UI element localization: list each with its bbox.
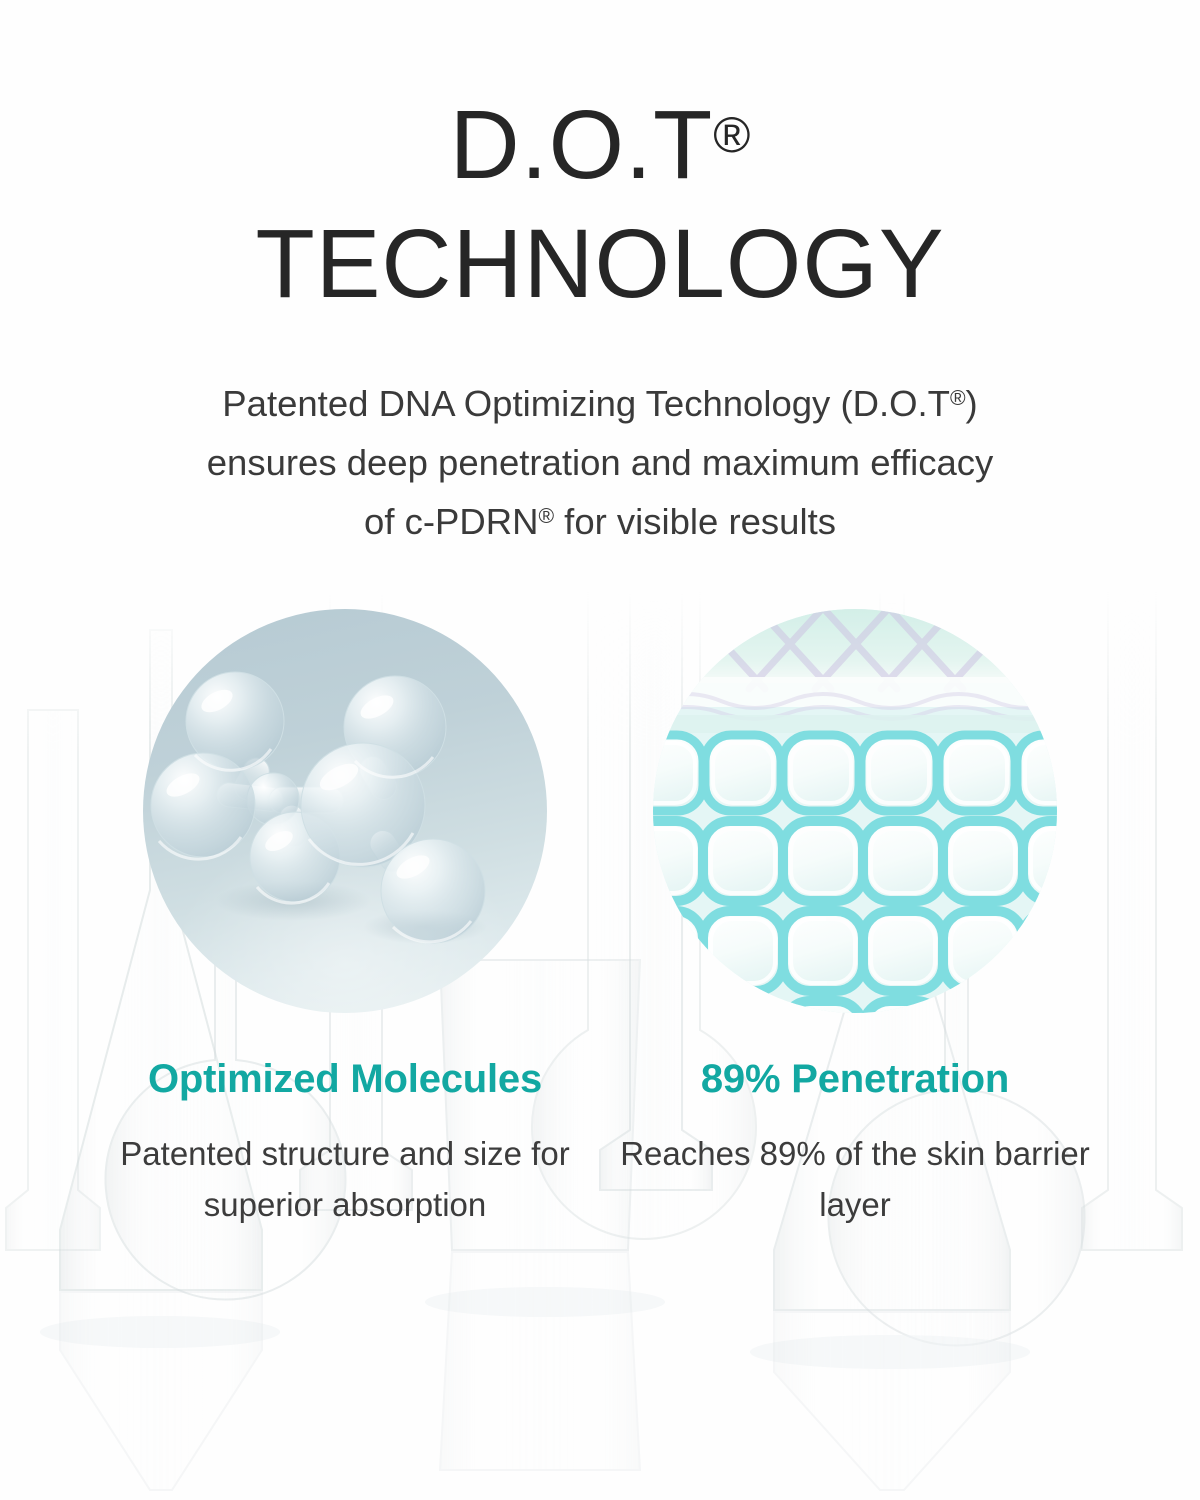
- page-title-secondary: TECHNOLOGY: [0, 215, 1200, 312]
- feature-description: Patented structure and size for superior…: [100, 1129, 590, 1229]
- subtitle-line-2: ensures deep penetration and maximum eff…: [0, 433, 1200, 492]
- subtitle-line-1-text-a: Patented DNA Optimizing Technology (D.O.…: [222, 383, 950, 424]
- feature-item-optimized-molecules: Optimized Molecules Patented structure a…: [100, 609, 590, 1229]
- feature-list: Optimized Molecules Patented structure a…: [0, 609, 1200, 1229]
- subtitle-line-3-text-a: of c-PDRN: [364, 501, 538, 542]
- registered-trademark-icon: ®: [950, 387, 966, 410]
- feature-item-penetration: 89% Penetration Reaches 89% of the skin …: [610, 609, 1100, 1229]
- subtitle-line-1-text-b: ): [966, 383, 978, 424]
- feature-description: Reaches 89% of the skin barrier layer: [610, 1129, 1100, 1229]
- page-header: D.O.T® TECHNOLOGY: [0, 0, 1200, 312]
- feature-title: 89% Penetration: [610, 1057, 1100, 1101]
- skin-lattice-illustration: [653, 609, 1057, 1013]
- page-subtitle: Patented DNA Optimizing Technology (D.O.…: [0, 374, 1200, 551]
- registered-trademark-icon: ®: [538, 505, 554, 528]
- feature-title: Optimized Molecules: [100, 1057, 590, 1101]
- page-title-text: D.O.T: [450, 90, 714, 199]
- molecule-illustration: [143, 609, 547, 1013]
- page-title-primary: D.O.T®: [0, 96, 1200, 193]
- subtitle-line-3-text-b: for visible results: [554, 501, 836, 542]
- subtitle-line-3: of c-PDRN® for visible results: [0, 492, 1200, 551]
- registered-trademark-icon: ®: [713, 106, 750, 163]
- dot-technology-infographic: D.O.T® TECHNOLOGY Patented DNA Optimizin…: [0, 0, 1200, 1500]
- subtitle-line-1: Patented DNA Optimizing Technology (D.O.…: [0, 374, 1200, 433]
